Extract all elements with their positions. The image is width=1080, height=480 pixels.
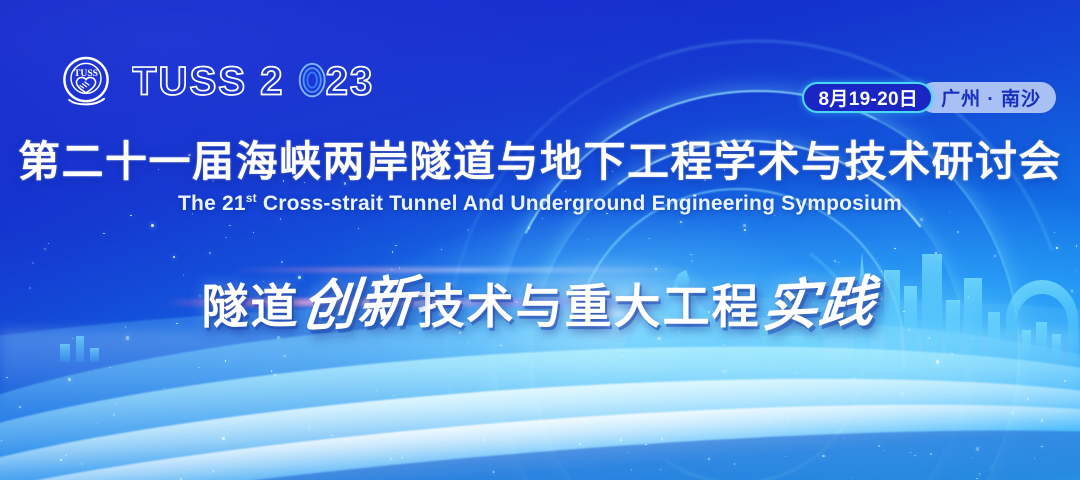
light-flow-2	[0, 316, 1080, 480]
brand-logo: TUSS TUSS 2 23	[56, 52, 420, 112]
light-flow-dark	[0, 397, 1080, 480]
tuss-emblem-icon: TUSS	[56, 52, 116, 112]
tuss-wordmark: TUSS 2 23	[132, 59, 420, 105]
event-meta-badges: 8月19-20日 广州 · 南沙	[802, 82, 1056, 113]
conference-banner: TUSS TUSS 2 23 8月19-20日 广州 · 南沙 第二十一届海峡两…	[0, 0, 1080, 480]
svg-text:23: 23	[326, 59, 375, 103]
title-en-ordinal: st	[246, 191, 257, 205]
slogan-part-4-brush: 实践	[757, 256, 883, 342]
page-title-cn: 第二十一届海峡两岸隧道与地下工程学术与技术研讨会	[18, 128, 1062, 189]
svg-text:TUSS 2: TUSS 2	[132, 59, 284, 103]
date-badge: 8月19-20日	[802, 82, 934, 113]
glow-arc-outer	[341, 0, 1080, 480]
title-en-rest: Cross-strait Tunnel And Underground Engi…	[263, 192, 902, 215]
svg-text:TUSS: TUSS	[74, 68, 98, 79]
slogan-part-2-brush: 创新	[296, 256, 422, 342]
slogan-part-3: 技术与重大工程	[418, 268, 761, 337]
title-en-prefix: The 21	[178, 192, 246, 215]
location-badge: 广州 · 南沙	[919, 82, 1056, 113]
glow-arc-4	[591, 210, 885, 480]
event-slogan: 隧道 创新 技术与重大工程 实践	[201, 259, 878, 339]
light-flow-4	[0, 370, 1080, 480]
slogan-part-1: 隧道	[201, 268, 299, 337]
ground-sheen	[0, 330, 1080, 480]
light-flow-3	[0, 345, 1080, 480]
page-title-en: The 21st Cross-strait Tunnel And Undergr…	[178, 191, 902, 216]
